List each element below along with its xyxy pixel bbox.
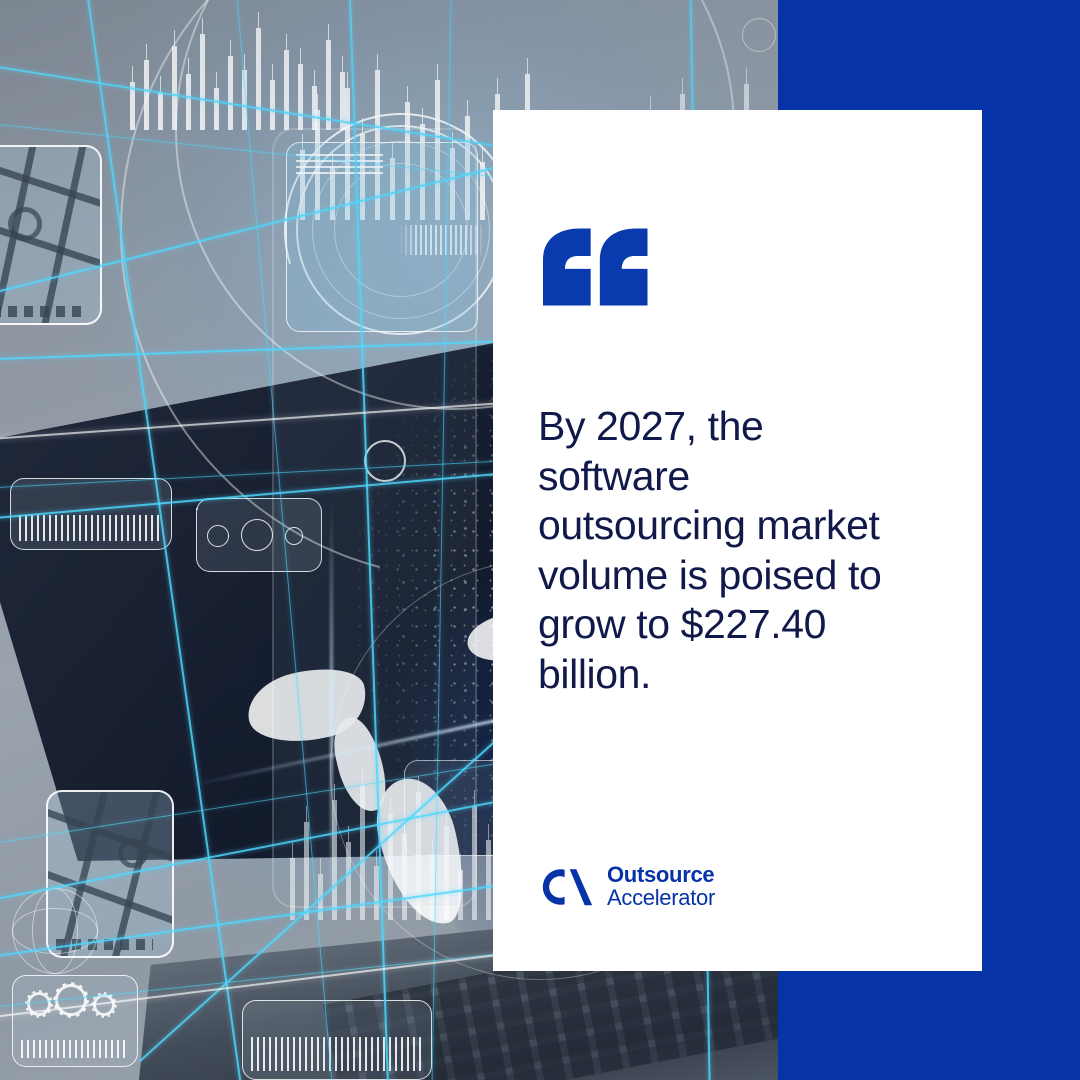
- hud-gauge-dot: [207, 525, 229, 547]
- outsource-accelerator-logo: Outsource Accelerator: [538, 862, 715, 912]
- hud-panel-stats: [196, 508, 198, 510]
- hud-panel-lines: [296, 152, 383, 174]
- laser-line: [79, 0, 248, 1080]
- logo-line-accelerator: Accelerator: [607, 887, 715, 910]
- hud-gauge-dot: [285, 527, 303, 545]
- candlestick-chart-lower: [290, 760, 500, 920]
- gear-icon: [27, 992, 51, 1016]
- hud-dial-outer: [296, 125, 506, 335]
- laser-line: [0, 165, 504, 302]
- network-sphere-band: [12, 908, 98, 954]
- quote-mark-icon: [543, 148, 663, 268]
- candlestick-chart-top: [130, 10, 360, 130]
- logo-wordmark: Outsource Accelerator: [607, 864, 715, 910]
- laser-line: [347, 0, 391, 1080]
- hud-compass-icon: [364, 440, 406, 482]
- double-quote-glyph: [543, 225, 653, 309]
- laser-line: [431, 0, 453, 1080]
- map-card-top-left: [0, 145, 102, 325]
- quote-graphic-canvas: By 2027, the software outsourcing market…: [0, 0, 1080, 1080]
- logo-line-outsource: Outsource: [607, 864, 715, 887]
- lens-flare-vertical: [330, 500, 333, 930]
- hud-dial-mid: [312, 141, 490, 319]
- gear-icon: [93, 994, 115, 1016]
- map-card-tablet: [272, 128, 477, 908]
- map-card-icon-row: [56, 939, 153, 950]
- hud-panel-bars: [251, 1037, 423, 1071]
- hud-panel-bars: [19, 515, 163, 541]
- gear-icon: [55, 984, 87, 1016]
- hud-panel-chart: [242, 1000, 432, 1080]
- hud-panel-dashboard: [10, 478, 172, 550]
- hud-dial-inner: [334, 163, 468, 297]
- laser-line: [232, 0, 338, 1080]
- hud-panel-robot: [286, 142, 478, 332]
- hud-panel-gauges: [196, 498, 322, 572]
- quote-text: By 2027, the software outsourcing market…: [538, 402, 888, 699]
- network-sphere-band: [32, 888, 78, 974]
- hud-panel-bars: [21, 1040, 129, 1058]
- map-card-icon-row: [0, 306, 82, 317]
- network-sphere: [12, 888, 98, 974]
- hud-gauge-dot: [241, 519, 273, 551]
- hud-waveform: [400, 225, 484, 255]
- map-card-bottom-left: [46, 790, 174, 958]
- hud-panel-gears: [12, 975, 138, 1067]
- ca-monogram-icon: [538, 862, 594, 912]
- hud-node-icon: [742, 18, 776, 52]
